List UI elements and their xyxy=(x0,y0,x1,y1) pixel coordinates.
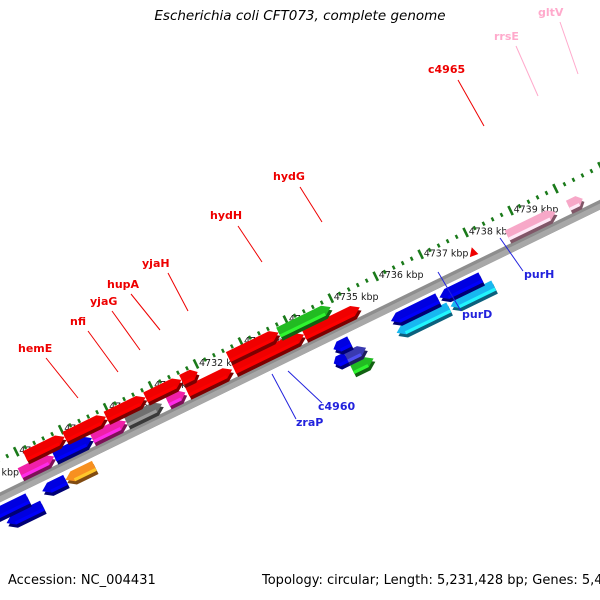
ruler-tick-label: 4736 kbp xyxy=(379,270,424,281)
feature-markers xyxy=(470,247,479,257)
ruler-minor-tick xyxy=(312,305,314,309)
gene-label-purH[interactable]: purH xyxy=(524,268,554,281)
gene-label-hydH[interactable]: hydH xyxy=(210,209,242,222)
ruler-minor-tick xyxy=(141,388,143,392)
gene-track xyxy=(0,196,584,528)
ruler-minor-tick xyxy=(528,200,530,204)
ruler-minor-tick xyxy=(231,345,233,349)
ruler-minor-tick xyxy=(222,349,224,353)
gene-label-leader xyxy=(112,311,140,350)
ruler-major-tick xyxy=(194,359,198,368)
ruler-minor-tick xyxy=(447,239,449,243)
ruler-minor-tick xyxy=(357,283,359,287)
ruler-minor-tick xyxy=(33,441,35,445)
ruler-minor-tick xyxy=(123,397,125,401)
ruler-minor-tick xyxy=(51,432,53,436)
ruler-minor-tick xyxy=(537,196,539,200)
ruler-minor-tick xyxy=(6,454,8,458)
gene-label-leader xyxy=(288,371,322,403)
ruler-minor-tick xyxy=(132,393,134,397)
ruler-minor-tick xyxy=(591,169,593,173)
gene-label-hemE[interactable]: hemE xyxy=(18,342,52,355)
ruler-tick-label: 4735 kbp xyxy=(334,292,379,303)
ruler-minor-tick xyxy=(276,323,278,327)
gene-label-leader xyxy=(46,358,78,398)
ruler-minor-tick xyxy=(393,266,395,270)
genome-summary-text: Topology: circular; Length: 5,231,428 bp… xyxy=(261,573,600,588)
genome-map-canvas: Escherichia coli CFT073, complete genome… xyxy=(0,0,600,600)
ruler-minor-tick xyxy=(402,261,404,265)
gene-label-yjaG[interactable]: yjaG xyxy=(90,295,117,308)
gene-label-leader xyxy=(168,273,188,311)
gene-label-layer: hemEnfiyjaGhupAyjaHhydHhydGc4965rrsEgltV… xyxy=(18,6,578,429)
gene-label-c4965[interactable]: c4965 xyxy=(428,63,465,76)
ruler-major-tick xyxy=(508,206,512,215)
ruler-minor-tick xyxy=(501,213,503,217)
gene-label-yjaH[interactable]: yjaH xyxy=(142,257,170,270)
ruler-major-tick xyxy=(14,447,18,456)
ruler-minor-tick xyxy=(177,371,179,375)
ruler-minor-tick xyxy=(366,279,368,283)
ruler-minor-tick xyxy=(303,310,305,314)
ruler-minor-tick xyxy=(348,288,350,292)
genome-diagram-svg: Escherichia coli CFT073, complete genome… xyxy=(0,0,600,600)
gene-label-purD[interactable]: purD xyxy=(462,308,492,321)
ruler-minor-tick xyxy=(321,301,323,305)
page-title: Escherichia coli CFT073, complete genome xyxy=(154,8,445,24)
ruler-major-tick xyxy=(418,250,422,259)
ruler-minor-tick xyxy=(87,415,89,419)
ruler-minor-tick xyxy=(456,235,458,239)
gene-label-leader xyxy=(88,331,118,372)
ruler-minor-tick xyxy=(492,218,494,222)
gene-label-leader xyxy=(131,294,160,330)
ruler-major-tick xyxy=(59,425,63,434)
ruler-major-tick xyxy=(374,272,378,281)
ruler-major-tick xyxy=(329,294,333,303)
gene-label-nfi[interactable]: nfi xyxy=(70,315,86,328)
ruler-minor-tick xyxy=(573,178,575,182)
ruler-minor-tick xyxy=(186,367,188,371)
gene-label-hydG[interactable]: hydG xyxy=(273,170,305,183)
gene-label-leader xyxy=(560,22,578,74)
ruler-minor-tick xyxy=(483,222,485,226)
ruler-tick-label: 4737 kbp xyxy=(424,248,469,259)
gene-label-leader xyxy=(238,226,262,262)
gene-label-rrsE[interactable]: rrsE xyxy=(494,30,519,43)
ruler-minor-tick xyxy=(564,182,566,186)
gene-label-leader xyxy=(300,187,322,222)
gene-label-leader xyxy=(272,374,296,419)
gene-label-leader xyxy=(458,80,484,126)
gene-label-zraP[interactable]: zraP xyxy=(296,416,323,429)
ruler-tick-label: 4727 kbp xyxy=(0,468,19,479)
ruler-minor-tick xyxy=(267,327,269,331)
ruler-minor-tick xyxy=(168,375,170,379)
ruler-minor-tick xyxy=(42,437,44,441)
ruler-major-tick xyxy=(553,184,557,193)
ruler-minor-tick xyxy=(213,353,215,357)
accession-text: Accession: NC_004431 xyxy=(8,573,156,588)
ruler-minor-tick xyxy=(582,174,584,178)
ruler-major-tick xyxy=(463,228,467,237)
gene-label-gltV[interactable]: gltV xyxy=(538,6,564,19)
ruler-minor-tick xyxy=(78,419,80,423)
ruler-minor-tick xyxy=(546,191,548,195)
ruler-minor-tick xyxy=(96,410,98,414)
gene-label-leader xyxy=(516,46,538,96)
ruler-minor-tick xyxy=(258,331,260,335)
gene-label-c4960[interactable]: c4960 xyxy=(318,400,355,413)
ruler-minor-tick xyxy=(438,244,440,248)
ruler-minor-tick xyxy=(411,257,413,261)
gene-label-hupA[interactable]: hupA xyxy=(107,278,140,291)
c4965-marker xyxy=(470,247,479,257)
